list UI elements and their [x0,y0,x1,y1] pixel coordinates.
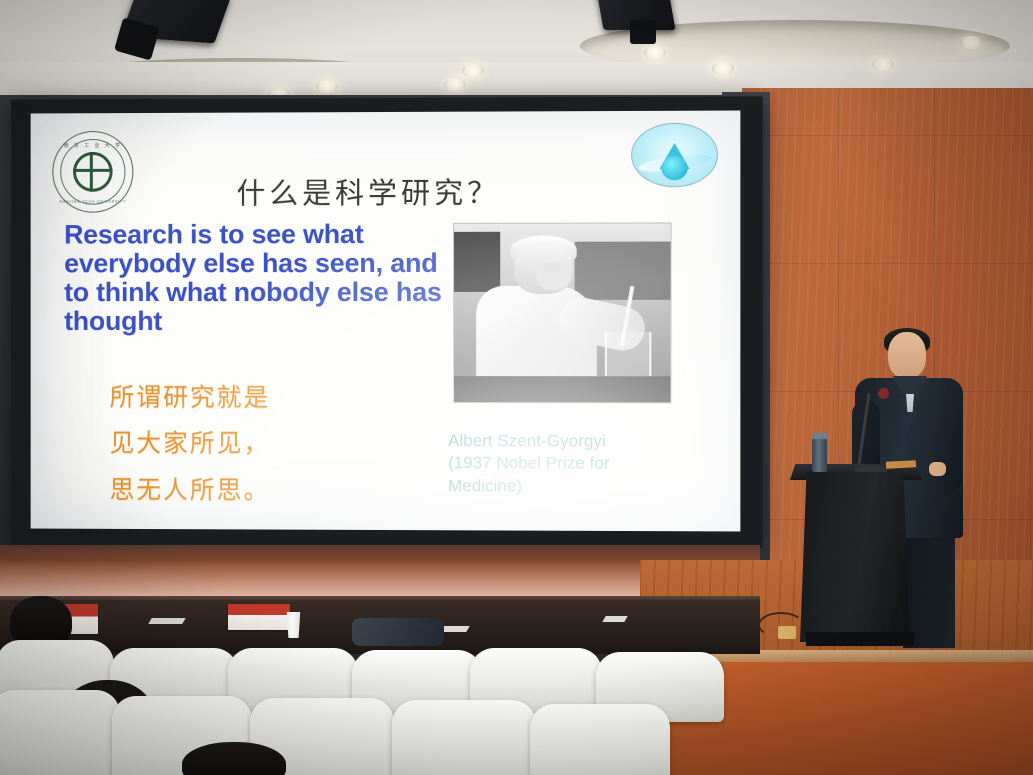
projection-screen: 南 京 工 业 大 学 NANJING TECH UNIVERSITY 什么是科… [31,111,741,532]
slide-title: 什么是科学研究？ [31,169,741,213]
downlight-icon [316,80,338,93]
thermos-cap [812,433,827,439]
downlight-icon [712,62,734,75]
slide-attribution: Albert Szent-Gyorgyi (1937 Nobel Prize f… [448,430,700,498]
lecture-hall-photo: 南 京 工 业 大 学 NANJING TECH UNIVERSITY 什么是科… [0,0,1033,775]
chinese-line-2: 见大家所见， [110,421,418,468]
projector-lens-icon [630,20,656,44]
downlight-icon [960,36,982,49]
scientist-photo [454,223,670,402]
photo-face [536,262,570,290]
downlight-icon [444,78,466,91]
projection-screen-frame: 南 京 工 业 大 学 NANJING TECH UNIVERSITY 什么是科… [11,96,763,547]
slide-english-quote: Research is to see what everybody else h… [64,220,462,336]
chair [530,704,670,775]
downlight-icon [462,64,484,77]
downlight-icon [644,46,666,59]
floor-tape-marker [778,626,796,639]
slide-chinese-quote: 所谓研究就是 见大家所见， 思无人所思。 [110,375,418,514]
downlight-icon [872,58,894,71]
podium-base [806,632,914,646]
chair [0,690,120,775]
attribution-line-3: Medicine) [448,475,700,498]
table-document [602,616,627,622]
table-document [148,618,185,624]
chinese-line-3: 思无人所思。 [110,467,418,514]
seal-top-text: 南 京 工 业 大 学 [53,142,132,149]
microphone-icon [878,388,889,399]
podium [800,472,910,642]
speaker-legs [903,530,955,648]
jacket-on-chair [352,618,444,646]
photo-lab-shelf [575,242,671,300]
chair [392,700,536,775]
photo-lab-equipment [454,232,500,292]
photo-lab-bench [454,376,670,402]
thermos-cup [812,437,827,473]
attribution-line-2: (1937 Nobel Prize for [448,453,700,476]
speaker-right-arm [934,400,962,492]
speaker-right-hand [929,462,946,476]
chinese-line-1: 所谓研究就是 [110,375,418,422]
attribution-line-1: Albert Szent-Gyorgyi [448,430,700,453]
name-card [228,604,290,630]
